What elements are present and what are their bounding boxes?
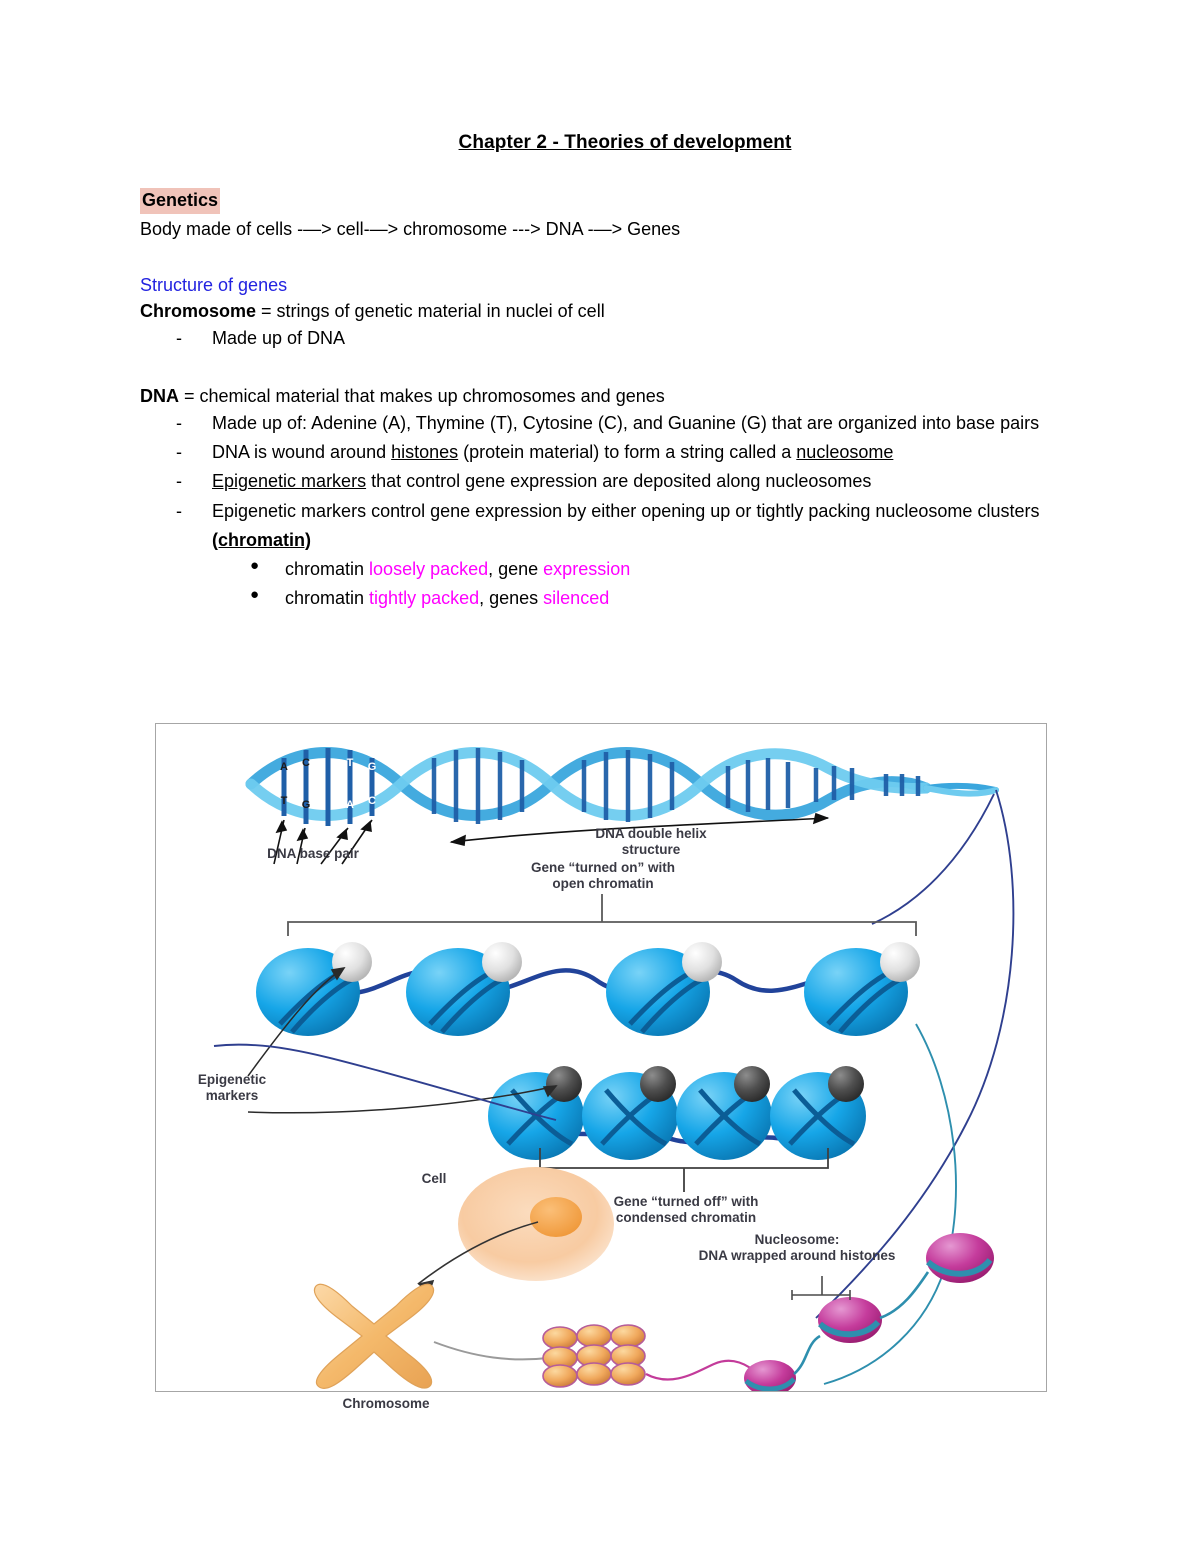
base-letter-C: C [302,757,310,769]
chromosome-term: Chromosome [140,301,256,321]
sub-text-2: , gene [488,559,543,579]
genetics-heading-wrap: Genetics [140,188,1070,216]
spacer [140,242,1070,272]
sub-text-1: chromatin [285,559,369,579]
bullet-text-a: DNA is wound around [212,442,391,462]
label-epigenetic-markers: Epigenetic markers [172,1072,292,1104]
bullet-text-b: that control gene expression are deposit… [366,471,871,491]
list-item: - Epigenetic markers control gene expres… [140,497,1070,555]
dash-bullet-icon: - [176,324,182,353]
figure-illustration: A T C G T A G C [156,724,1046,1391]
label-gene-turned-on: Gene “turned on” with open chromatin [508,860,698,892]
round-bullet-icon: ● [250,554,259,578]
open-chromatin-bracket [288,894,916,936]
nucleosome-measure-bracket [792,1276,850,1300]
base-letter-A: A [280,761,288,773]
term-chromatin: (chromatin) [212,530,311,550]
dna-bullet-list: - Made up of: Adenine (A), Thymine (T), … [140,409,1070,555]
sub-text-1: chromatin [285,588,369,608]
epigenetic-marker-dark [734,1066,770,1102]
dash-bullet-icon: - [176,467,182,496]
chromatin-fiber-cluster [543,1325,645,1387]
condensed-chromatin-nucleosomes [488,1066,866,1160]
chromosome-bullet-list: - Made up of DNA [140,324,1070,353]
page-title: Chapter 2 - Theories of development [140,132,1070,154]
highlight-tightly-packed: tightly packed [369,588,479,608]
term-histones: histones [391,442,458,462]
list-item: - Epigenetic markers that control gene e… [140,467,1070,496]
label-dna-base-pair: DNA base pair [228,846,398,862]
chromosome-definition: Chromosome = strings of genetic material… [140,298,1070,324]
highlight-loosely-packed: loosely packed [369,559,488,579]
label-chromosome: Chromosome [306,1396,466,1412]
dna-term: DNA [140,386,179,406]
chromosome-def-text: = strings of genetic material in nuclei … [256,301,605,321]
chromosome-graphic [314,1284,433,1388]
epigenetic-marker-dark [828,1066,864,1102]
list-item: ● chromatin loosely packed, gene express… [140,555,1070,584]
highlight-expression: expression [543,559,630,579]
dash-bullet-icon: - [176,438,182,467]
genetics-chain-line: Body made of cells -—> cell-—> chromosom… [140,216,1070,242]
list-item: - DNA is wound around histones (protein … [140,438,1070,467]
epigenetic-marker-dark [546,1066,582,1102]
nucleus [530,1197,582,1237]
spacer [140,353,1070,383]
base-letter-C2: C [368,795,376,807]
bullet-text: Made up of: Adenine (A), Thymine (T), Cy… [212,413,1039,433]
base-letter-T2: T [347,757,354,769]
dna-def-text: = chemical material that makes up chromo… [179,386,665,406]
figure-canvas: A T C G T A G C [156,724,1046,1391]
base-letter-T: T [281,795,288,807]
genetics-heading: Genetics [140,188,220,214]
round-bullet-icon: ● [250,583,259,607]
page: Chapter 2 - Theories of development Gene… [0,0,1200,1553]
epigenetic-marker-white [682,942,722,982]
label-cell: Cell [404,1171,464,1187]
list-item: - Made up of: Adenine (A), Thymine (T), … [140,409,1070,438]
epigenetics-figure: A T C G T A G C [155,723,1047,1392]
epigenetic-marker-dark [640,1066,676,1102]
label-dna-double-helix: DNA double helix structure [556,826,746,858]
list-item: ● chromatin tightly packed, genes silenc… [140,584,1070,613]
sub-text-2: , genes [479,588,543,608]
epigenetic-marker-white [880,942,920,982]
term-nucleosome: nucleosome [796,442,893,462]
notes-body: Chapter 2 - Theories of development Gene… [140,132,1070,613]
epigenetic-marker-white [482,942,522,982]
list-item: - Made up of DNA [140,324,1070,353]
dash-bullet-icon: - [176,497,182,526]
base-letter-A2: A [346,799,354,811]
structure-of-genes-heading: Structure of genes [140,272,1070,298]
bullet-text: Made up of DNA [212,328,345,348]
bullet-text-a: Epigenetic markers control gene expressi… [212,501,1039,521]
chromatin-sub-bullet-list: ● chromatin loosely packed, gene express… [140,555,1070,613]
dna-definition: DNA = chemical material that makes up ch… [140,383,1070,409]
bullet-text-b: (protein material) to form a string call… [458,442,796,462]
label-gene-turned-off: Gene “turned off” with condensed chromat… [586,1194,786,1226]
base-letter-G2: G [368,761,377,773]
term-epigenetic-markers: Epigenetic markers [212,471,366,491]
base-letter-G: G [302,799,311,811]
highlight-silenced: silenced [543,588,609,608]
open-chromatin-nucleosomes [256,942,920,1036]
dash-bullet-icon: - [176,409,182,438]
label-nucleosome: Nucleosome: DNA wrapped around histones [652,1232,942,1264]
